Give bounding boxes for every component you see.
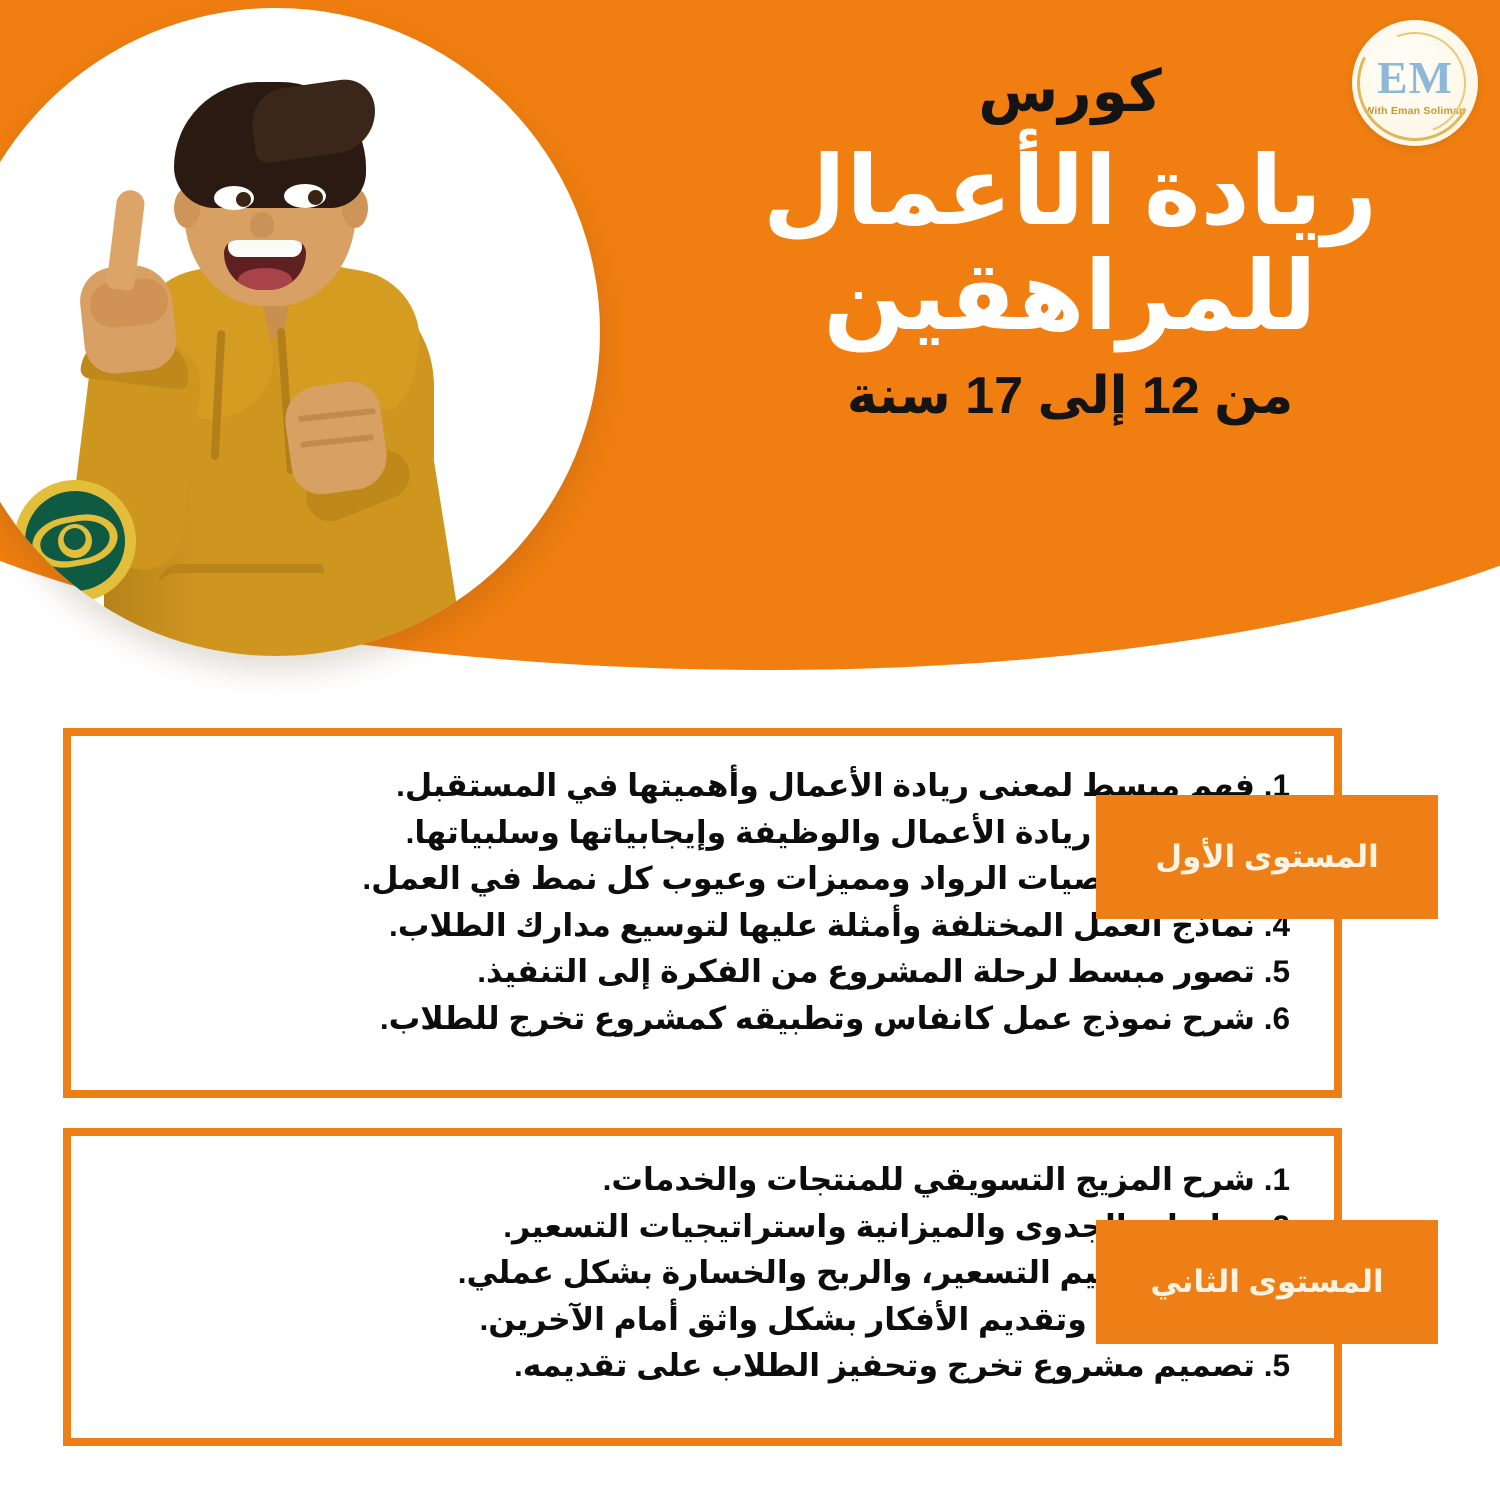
pupil-left bbox=[236, 192, 251, 207]
brand-logo: EM With Eman Soliman bbox=[1352, 20, 1478, 146]
level-2-section: 1. شرح المزيج التسويقي للمنتجات والخدمات… bbox=[0, 1128, 1500, 1446]
list-item: 6. شرح نموذج عمل كانفاس وتطبيقه كمشروع ت… bbox=[115, 995, 1290, 1042]
level-2-badge: المستوى الثاني bbox=[1096, 1220, 1438, 1344]
level-2-badge-label: المستوى الثاني bbox=[1150, 1264, 1383, 1300]
course-title-line-2: للمراهقين bbox=[760, 244, 1380, 350]
level-1-section: 1. فهم مبسط لمعنى ريادة الأعمال وأهميتها… bbox=[0, 728, 1500, 1098]
list-item: 5. تصميم مشروع تخرج وتحفيز الطلاب على تق… bbox=[115, 1342, 1290, 1389]
level-1-badge-label: المستوى الأول bbox=[1155, 839, 1379, 875]
list-item: 1. شرح المزيج التسويقي للمنتجات والخدمات… bbox=[115, 1156, 1290, 1203]
course-kicker: كورس bbox=[760, 62, 1380, 123]
nose bbox=[250, 212, 274, 238]
tongue bbox=[238, 268, 292, 290]
age-range: من 12 إلى 17 سنة bbox=[760, 368, 1380, 425]
teeth bbox=[228, 240, 302, 257]
course-title-line-1: ريادة الأعمال bbox=[760, 139, 1380, 245]
pupil-right bbox=[308, 190, 323, 205]
list-item: 5. تصور مبسط لرحلة المشروع من الفكرة إلى… bbox=[115, 948, 1290, 995]
course-poster: EM With Eman Soliman كورس ريادة الأعمال … bbox=[0, 0, 1500, 1500]
student-photo bbox=[0, 8, 600, 656]
level-1-badge: المستوى الأول bbox=[1096, 795, 1438, 919]
header-text-block: كورس ريادة الأعمال للمراهقين من 12 إلى 1… bbox=[760, 62, 1380, 425]
student-photo-circle bbox=[0, 8, 600, 656]
